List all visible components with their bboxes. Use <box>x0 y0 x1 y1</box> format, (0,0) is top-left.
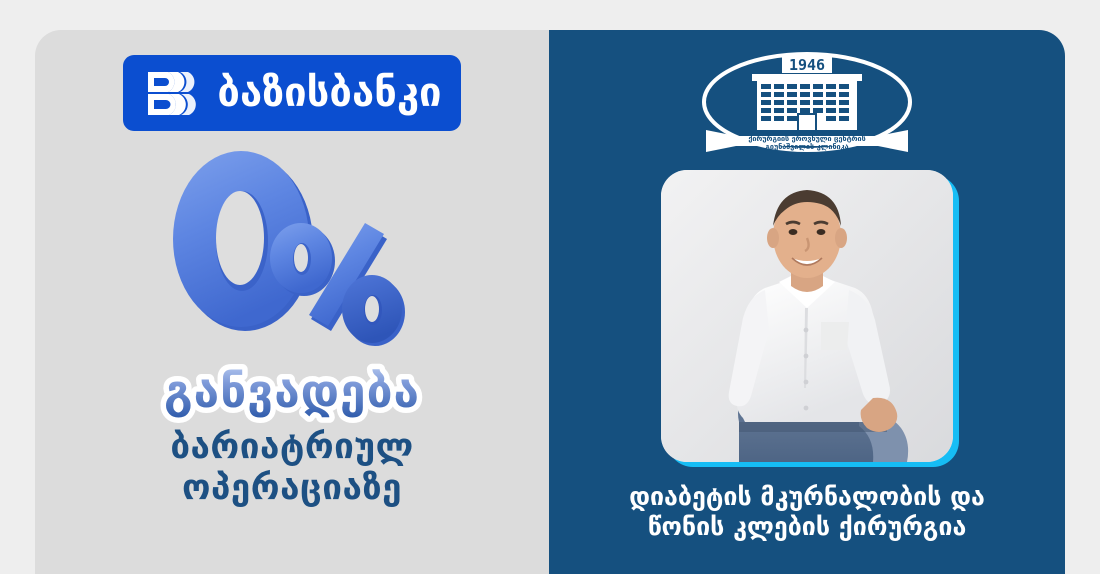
patient-photo <box>661 170 953 462</box>
bank-logo[interactable]: ბაზისბანკი <box>123 55 461 131</box>
clinic-year-label: 1946 <box>789 56 825 74</box>
bb-monogram-icon <box>146 69 204 117</box>
offer-subline-2: ოპერაციაზე <box>170 468 413 509</box>
headline-wrap: განვადება განვადება <box>35 363 549 421</box>
offer-panel: ბაზისბანკი <box>35 30 549 574</box>
clinic-ribbon-line-2: გიუნაშვილის კლინიკა <box>765 142 848 151</box>
clinic-caption-line-2: წონის კლების ქირურგია <box>597 512 1017 542</box>
clinic-panel: 1946 <box>549 30 1065 574</box>
promo-banner: ბაზისბანკი <box>35 30 1065 574</box>
patient-photo-frame <box>661 170 953 462</box>
clinic-logo[interactable]: 1946 <box>696 50 918 162</box>
installment-headline: განვადება განვადება <box>112 361 472 423</box>
clinic-caption-line-1: დიაბეტის მკურნალობის და <box>597 482 1017 512</box>
zero-percent-graphic <box>162 149 422 349</box>
bank-name-label: ბაზისბანკი <box>217 73 441 113</box>
offer-subline: ბარიატრიულ ოპერაციაზე <box>170 427 413 509</box>
svg-text:განვადება: განვადება <box>164 364 420 418</box>
clinic-caption: დიაბეტის მკურნალობის და წონის კლების ქირ… <box>597 482 1017 542</box>
offer-subline-1: ბარიატრიულ <box>170 427 413 468</box>
